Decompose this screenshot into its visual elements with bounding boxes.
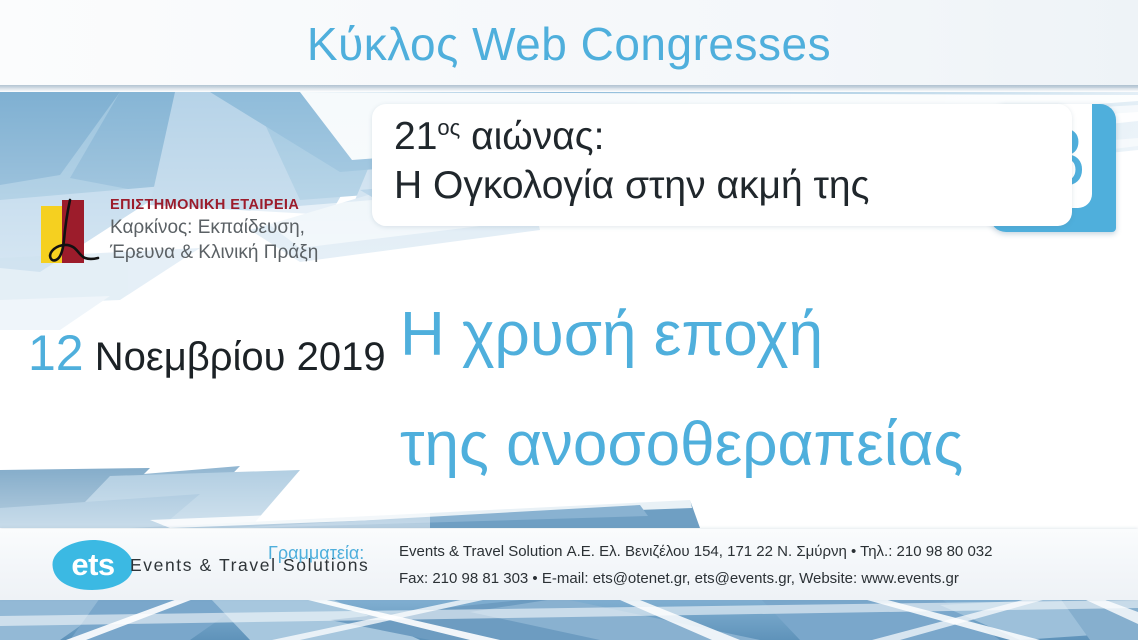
- congress-poster: Κύκλος Web Congresses 4β 21ος αιώνας: Η …: [0, 0, 1138, 640]
- society-logo-block: ΕΠΙΣΤΗΜΟΝΙΚΗ ΕΤΑΙΡΕΙΑ Καρκίνος: Εκπαίδευ…: [40, 196, 370, 274]
- contact-line-1: Events & Travel Solution Α.Ε. Ελ. Βενιζέ…: [399, 538, 1099, 565]
- top-banner: Κύκλος Web Congresses: [0, 0, 1138, 88]
- series-title: Κύκλος Web Congresses: [0, 16, 1138, 72]
- title-century-suffix: ος: [437, 115, 460, 140]
- title-century-rest: αιώνας:: [460, 115, 604, 158]
- society-logo-icon: [40, 198, 102, 270]
- contact-line-2: Fax: 210 98 81 303 • E-mail: ets@otenet.…: [399, 565, 1099, 592]
- main-headline-line-2: της ανοσοθεραπείας: [400, 390, 1100, 500]
- event-date: 12 Νοεμβρίου 2019: [28, 322, 386, 388]
- event-date-month-year: Νοεμβρίου 2019: [84, 335, 386, 379]
- society-line-3: Έρευνα & Κλινική Πράξη: [110, 240, 318, 265]
- title-panel: 21ος αιώνας: Η Ογκολογία στην ακμή της: [372, 104, 1072, 226]
- event-date-day: 12: [28, 325, 84, 381]
- main-headline: Η χρυσή εποχή της ανοσοθεραπείας: [400, 280, 1100, 500]
- society-line-1: ΕΠΙΣΤΗΜΟΝΙΚΗ ΕΤΑΙΡΕΙΑ: [110, 196, 318, 215]
- title-line-2: Η Ογκολογία στην ακμή της: [394, 160, 869, 212]
- title-century-number: 21: [394, 115, 437, 158]
- ets-logo-mark-text: ets: [52, 540, 134, 590]
- society-logo-text: ΕΠΙΣΤΗΜΟΝΙΚΗ ΕΤΑΙΡΕΙΑ Καρκίνος: Εκπαίδευ…: [110, 196, 318, 265]
- society-line-2: Καρκίνος: Εκπαίδευση,: [110, 215, 318, 240]
- bg-bottom-band: [0, 598, 1138, 640]
- top-banner-shadow: [0, 85, 1138, 92]
- main-headline-line-1: Η χρυσή εποχή: [400, 280, 1100, 390]
- secretariat-label: Γραμματεία:: [268, 540, 364, 566]
- title-line-1: 21ος αιώνας:: [394, 112, 604, 162]
- contact-details: Events & Travel Solution Α.Ε. Ελ. Βενιζέ…: [399, 538, 1099, 592]
